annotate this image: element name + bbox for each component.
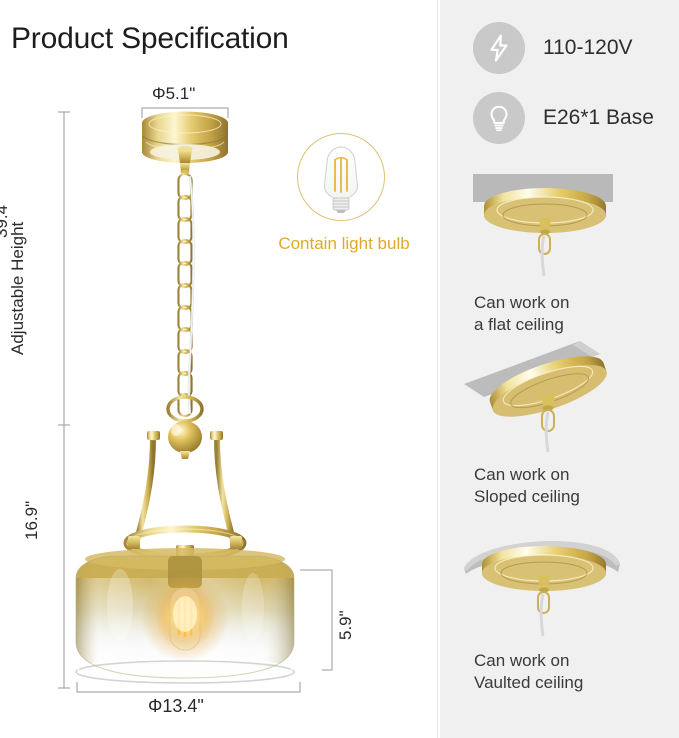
panel-divider — [437, 0, 438, 738]
sloped-ceiling-mount-icon — [440, 338, 679, 460]
dimension-fixture-height: 16.9" — [22, 501, 42, 540]
right-panel: 110-120V E26*1 Base — [440, 0, 679, 738]
mount-option-sloped: Can work on Sloped ceiling — [440, 338, 679, 509]
spec-row-base: E26*1 Base — [473, 92, 654, 144]
left-panel: Product Specification — [0, 0, 437, 738]
spec-label-base: E26*1 Base — [543, 106, 654, 130]
fixture-finial — [168, 397, 202, 459]
mount-caption-flat: Can work on a flat ceiling — [440, 292, 679, 337]
vaulted-ceiling-mount-icon — [440, 524, 679, 646]
edison-bulb-icon — [297, 133, 385, 221]
mount-caption-sloped-line1: Can work on — [474, 464, 679, 486]
dimension-adjustable-height-label: Adjustable Height — [8, 222, 28, 355]
dimension-canopy-diameter: Φ5.1" — [152, 84, 195, 104]
mount-caption-sloped: Can work on Sloped ceiling — [440, 464, 679, 509]
product-specification-page: Product Specification — [0, 0, 679, 738]
spec-label-voltage: 110-120V — [543, 36, 633, 60]
dimension-shade-diameter: Φ13.4" — [148, 696, 204, 717]
canopy-loop — [178, 146, 193, 174]
mount-option-flat: Can work on a flat ceiling — [440, 166, 679, 337]
pendant-lamp-illustration — [0, 0, 437, 738]
contain-light-bulb-callout — [297, 133, 385, 221]
mount-caption-flat-line1: Can work on — [474, 292, 679, 314]
lightning-bolt-icon — [473, 22, 525, 74]
dimension-shade-height: 5.9" — [336, 610, 356, 640]
light-bulb-icon — [473, 92, 525, 144]
mount-caption-vaulted-line1: Can work on — [474, 650, 679, 672]
dimension-adjustable-height-value: 39.4" — [0, 199, 12, 238]
spec-row-voltage: 110-120V — [473, 22, 633, 74]
mount-option-vaulted: Can work on Vaulted ceiling — [440, 524, 679, 695]
flat-ceiling-mount-icon — [440, 166, 679, 288]
contain-light-bulb-label: Contain light bulb — [259, 234, 429, 254]
mount-caption-vaulted-line2: Vaulted ceiling — [474, 672, 679, 694]
mount-caption-sloped-line2: Sloped ceiling — [474, 486, 679, 508]
mount-caption-vaulted: Can work on Vaulted ceiling — [440, 650, 679, 695]
mount-caption-flat-line2: a flat ceiling — [474, 314, 679, 336]
